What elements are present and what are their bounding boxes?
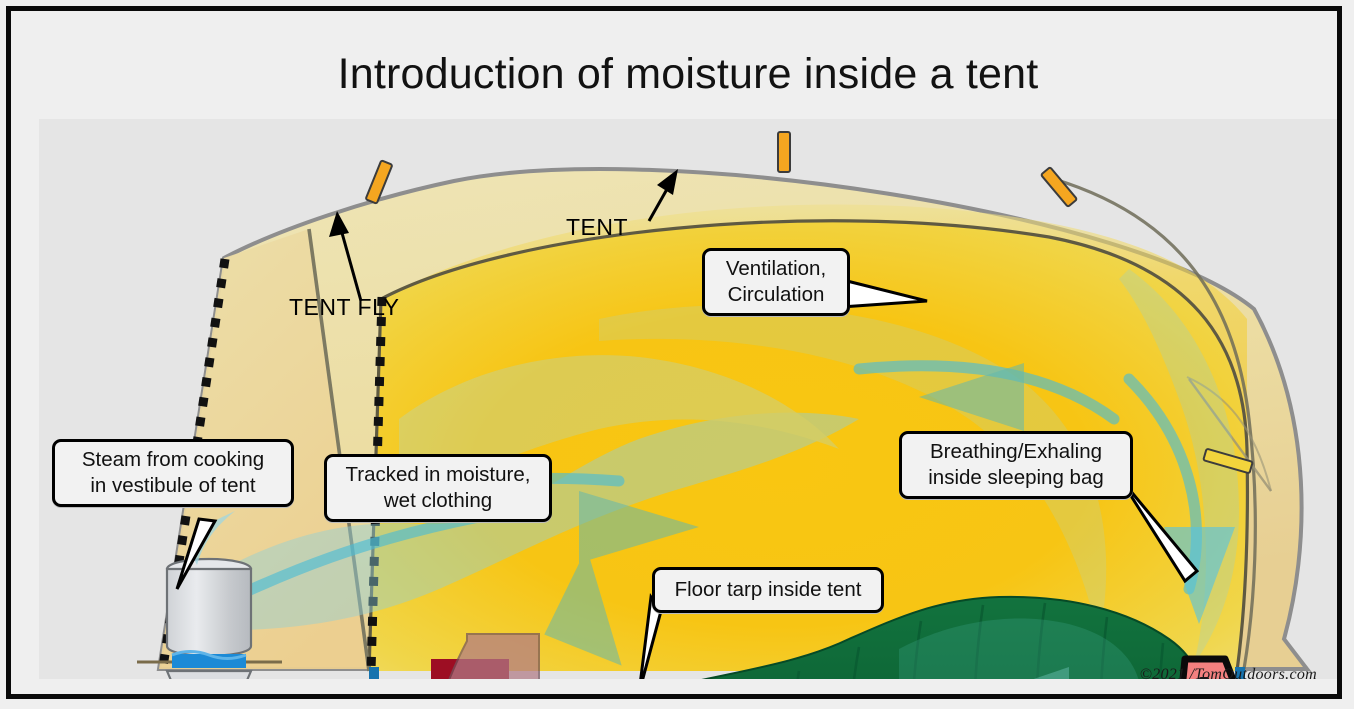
- tent-fly-label: TENT FLY: [289, 294, 400, 321]
- tie-tab-right: [1041, 167, 1077, 207]
- tent-label: TENT: [566, 214, 628, 241]
- callout-tracked-moisture[interactable]: Tracked in moisture, wet clothing: [324, 454, 552, 522]
- tie-tab-center: [778, 132, 790, 172]
- page-title: Introduction of moisture inside a tent: [39, 35, 1337, 113]
- copyright-notice: ©2021 /TomOutdoors.com: [1140, 666, 1317, 684]
- callout-breathing[interactable]: Breathing/Exhaling inside sleeping bag: [899, 431, 1133, 499]
- callout-floor-tarp[interactable]: Floor tarp inside tent: [652, 567, 884, 613]
- callout-steam-cooking[interactable]: Steam from cooking in vestibule of tent: [52, 439, 294, 507]
- diagram-stage: Introduction of moisture inside a tent: [0, 0, 1354, 709]
- tent-illustration: TENT FLY TENT Steam from cooking in vest…: [39, 119, 1337, 679]
- callout-ventilation[interactable]: Ventilation, Circulation: [702, 248, 850, 316]
- page-title-text: Introduction of moisture inside a tent: [338, 50, 1039, 99]
- image-frame: Introduction of moisture inside a tent: [6, 6, 1342, 699]
